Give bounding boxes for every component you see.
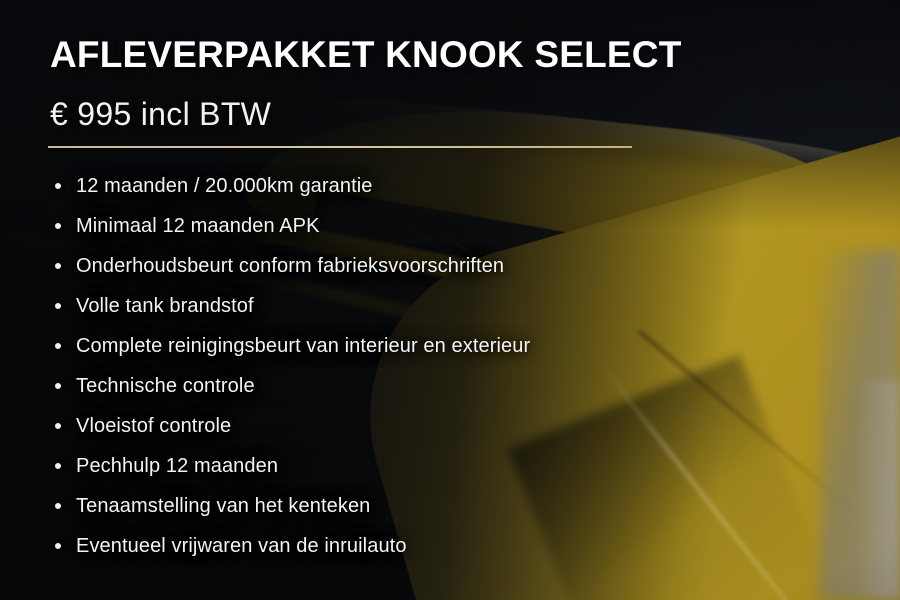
list-item: Complete reinigingsbeurt van interieur e…: [50, 326, 730, 366]
list-item-label: Vloeistof controle: [76, 415, 231, 438]
price-label: € 995 incl BTW: [50, 96, 271, 133]
bullet-dot-icon: [55, 343, 61, 349]
bullet-dot-icon: [55, 383, 61, 389]
bullet-dot-icon: [55, 423, 61, 429]
list-item-label: Technische controle: [76, 375, 255, 398]
bullet-dot-icon: [55, 543, 61, 549]
list-item-label: Tenaamstelling van het kenteken: [76, 495, 370, 518]
list-item: Vloeistof controle: [50, 406, 730, 446]
list-item: Eventueel vrijwaren van de inruilauto: [50, 526, 730, 566]
page-title: AFLEVERPAKKET KNOOK SELECT: [50, 34, 682, 76]
list-item: Onderhoudsbeurt conform fabrieksvoorschr…: [50, 246, 730, 286]
list-item-label: 12 maanden / 20.000km garantie: [76, 175, 373, 198]
feature-list: 12 maanden / 20.000km garantieMinimaal 1…: [50, 166, 730, 566]
list-item-label: Pechhulp 12 maanden: [76, 455, 278, 478]
list-item: Technische controle: [50, 366, 730, 406]
list-item: Minimaal 12 maanden APK: [50, 206, 730, 246]
list-item: 12 maanden / 20.000km garantie: [50, 166, 730, 206]
list-item-label: Complete reinigingsbeurt van interieur e…: [76, 335, 530, 358]
bullet-dot-icon: [55, 463, 61, 469]
promo-banner: AFLEVERPAKKET KNOOK SELECT € 995 incl BT…: [0, 0, 900, 600]
bullet-dot-icon: [55, 303, 61, 309]
bullet-dot-icon: [55, 223, 61, 229]
list-item: Volle tank brandstof: [50, 286, 730, 326]
header-divider: [48, 146, 632, 148]
list-item: Pechhulp 12 maanden: [50, 446, 730, 486]
list-item-label: Volle tank brandstof: [76, 295, 254, 318]
list-item-label: Minimaal 12 maanden APK: [76, 215, 320, 238]
list-item: Tenaamstelling van het kenteken: [50, 486, 730, 526]
promo-content: AFLEVERPAKKET KNOOK SELECT € 995 incl BT…: [0, 0, 900, 600]
list-item-label: Onderhoudsbeurt conform fabrieksvoorschr…: [76, 255, 504, 278]
bullet-dot-icon: [55, 503, 61, 509]
bullet-dot-icon: [55, 263, 61, 269]
list-item-label: Eventueel vrijwaren van de inruilauto: [76, 535, 407, 558]
bullet-dot-icon: [55, 183, 61, 189]
